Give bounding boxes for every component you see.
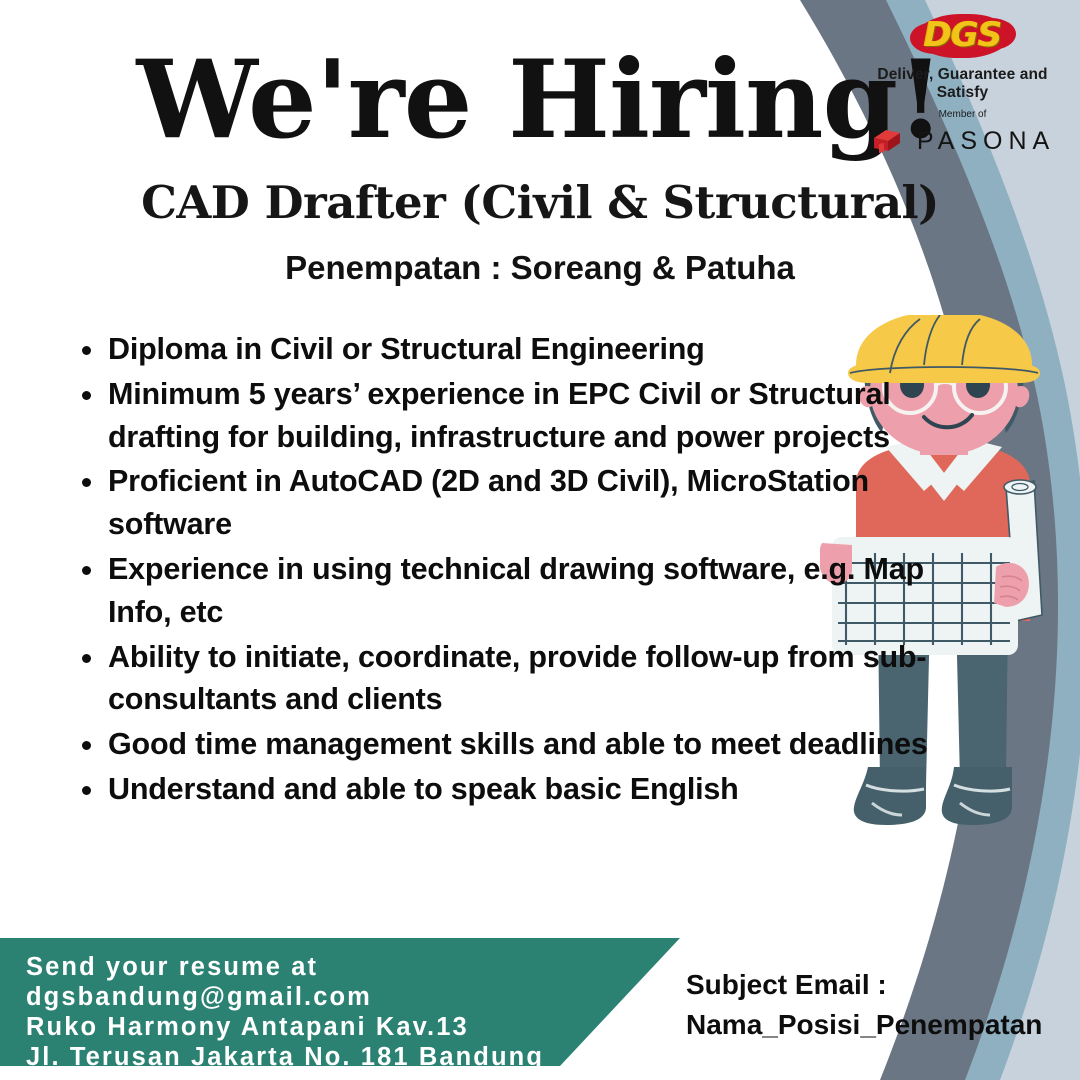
- list-item: Proficient in AutoCAD (2D and 3D Civil),…: [68, 460, 968, 546]
- subject-email-format: Nama_Posisi_Penempatan: [686, 1005, 1042, 1045]
- member-of-label: Member of: [855, 109, 1070, 120]
- contact-line: Jl. Terusan Jakarta No. 181 Bandung: [26, 1042, 680, 1072]
- list-item: Minimum 5 years’ experience in EPC Civil…: [68, 373, 968, 459]
- company-tagline: Deliver, Guarantee and Satisfy: [855, 66, 1070, 102]
- list-item: Ability to initiate, coordinate, provide…: [68, 636, 968, 722]
- job-title: CAD Drafter (Civil & Structural): [0, 154, 1080, 225]
- list-item: Understand and able to speak basic Engli…: [68, 768, 968, 811]
- job-poster: We're Hiring! CAD Drafter (Civil & Struc…: [0, 0, 1080, 1080]
- subject-email-label: Subject Email :: [686, 965, 1042, 1005]
- placement-text: Penempatan : Soreang & Patuha: [0, 225, 1080, 284]
- list-item: Experience in using technical drawing so…: [68, 548, 968, 634]
- pasona-row: PASONA: [855, 124, 1070, 158]
- list-item: Good time management skills and able to …: [68, 723, 968, 766]
- requirements-list: Diploma in Civil or Structural Engineeri…: [68, 328, 968, 813]
- contact-lines: Send your resume at dgsbandung@gmail.com…: [0, 938, 680, 1072]
- pasona-wordmark: PASONA: [913, 127, 1055, 156]
- list-item: Diploma in Civil or Structural Engineeri…: [68, 328, 968, 371]
- company-logo-block: DGS Deliver, Guarantee and Satisfy Membe…: [855, 8, 1070, 158]
- contact-line: Ruko Harmony Antapani Kav.13: [26, 1012, 680, 1042]
- dgs-wordmark: DGS: [908, 16, 1018, 54]
- contact-line: Send your resume at: [26, 952, 680, 982]
- contact-banner: Send your resume at dgsbandung@gmail.com…: [0, 938, 680, 1066]
- dgs-logo-icon: DGS: [908, 12, 1018, 60]
- pasona-mark-icon: [870, 124, 904, 158]
- contact-email[interactable]: dgsbandung@gmail.com: [26, 982, 680, 1012]
- subject-email-block: Subject Email : Nama_Posisi_Penempatan: [686, 965, 1042, 1045]
